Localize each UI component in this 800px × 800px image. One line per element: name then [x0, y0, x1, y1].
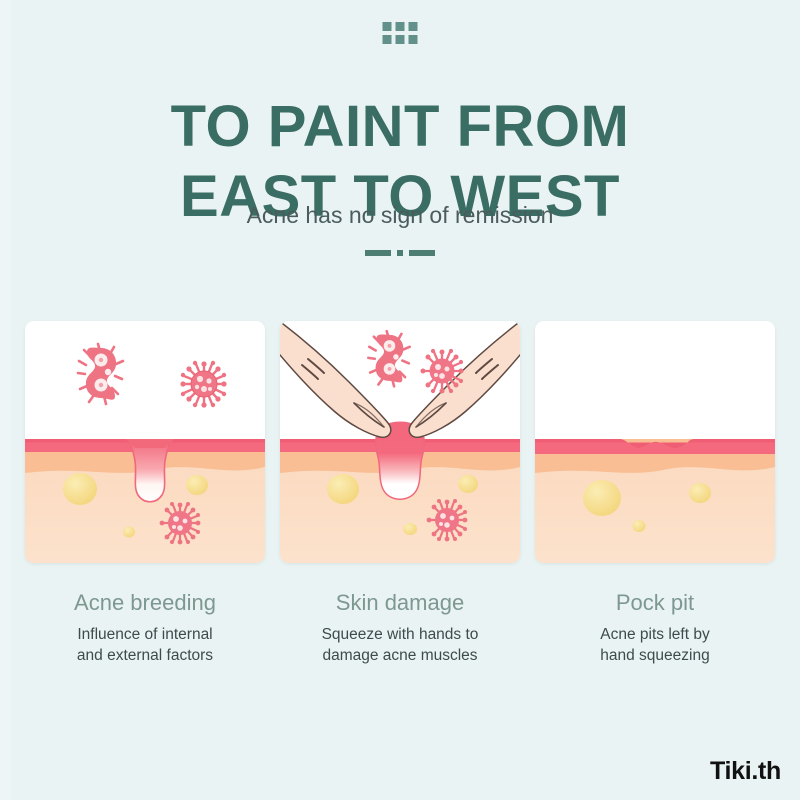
divider-ornament	[365, 250, 435, 256]
sebum-blob	[458, 475, 478, 493]
caption-description-line: Influence of internal	[25, 624, 265, 645]
sebum-blob	[327, 474, 359, 504]
sebum-blob	[689, 483, 711, 503]
skin-cross-section-pitted-scar-illustration	[535, 321, 775, 563]
caption-heading: Skin damage	[280, 588, 520, 618]
caption-skin-damage: Skin damage Squeeze with hands to damage…	[280, 588, 520, 666]
sebum-blob	[63, 473, 97, 505]
sebum-blob	[583, 480, 621, 516]
caption-heading: Acne breeding	[25, 588, 265, 618]
illustration-card-row	[25, 321, 775, 563]
grid-dot	[396, 22, 405, 31]
page-background: TO PAINT FROM EAST TO WEST Acne has no s…	[0, 0, 800, 800]
caption-heading: Pock pit	[535, 588, 775, 618]
sebum-blob	[123, 527, 135, 538]
caption-description-line: damage acne muscles	[280, 645, 520, 666]
caption-description-line: and external factors	[25, 645, 265, 666]
grid-dot	[396, 35, 405, 44]
caption-description-line: Squeeze with hands to	[280, 624, 520, 645]
illustration-card-pock-pit[interactable]	[535, 321, 775, 563]
grid-dot	[409, 35, 418, 44]
grid-dots-icon	[383, 22, 418, 44]
caption-description-line: hand squeezing	[535, 645, 775, 666]
sebum-blob	[403, 523, 417, 535]
virus-icon	[427, 499, 468, 541]
virus-icon	[180, 361, 226, 408]
illustration-card-skin-damage[interactable]	[280, 321, 520, 563]
caption-row: Acne breeding Influence of internal and …	[25, 588, 775, 666]
divider-dash	[365, 250, 391, 256]
skin-cross-section-clogged-pore-illustration	[25, 321, 265, 563]
grid-dot	[383, 35, 392, 44]
caption-description: Influence of internal and external facto…	[25, 624, 265, 666]
caption-pock-pit: Pock pit Acne pits left by hand squeezin…	[535, 588, 775, 666]
divider-dot	[397, 250, 403, 256]
caption-description: Acne pits left by hand squeezing	[535, 624, 775, 666]
grid-dot	[383, 22, 392, 31]
sebum-blob	[186, 475, 208, 495]
caption-acne-breeding: Acne breeding Influence of internal and …	[25, 588, 265, 666]
watermark: Tiki.th	[710, 757, 781, 786]
virus-icon	[160, 502, 201, 544]
page-subtitle: Acne has no sign of remission	[0, 202, 800, 229]
sebum-blob	[633, 520, 646, 532]
divider-dash	[409, 250, 435, 256]
page-title-line-1: TO PAINT FROM	[0, 92, 800, 162]
fingers-squeezing-pimple-illustration	[280, 321, 520, 563]
caption-description-line: Acne pits left by	[535, 624, 775, 645]
virus-icon	[421, 349, 464, 394]
illustration-card-acne-breeding[interactable]	[25, 321, 265, 563]
caption-description: Squeeze with hands to damage acne muscle…	[280, 624, 520, 666]
grid-dot	[409, 22, 418, 31]
